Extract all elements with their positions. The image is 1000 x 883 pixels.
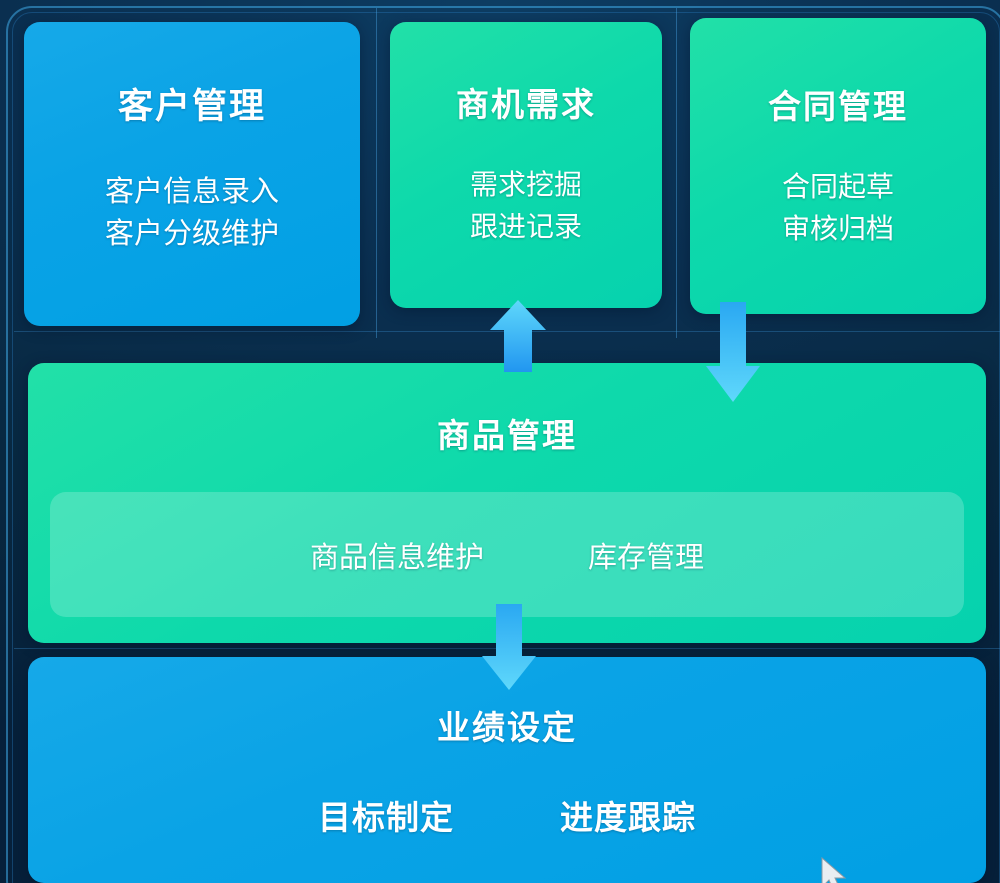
card-opportunity-demand[interactable]: 商机需求 需求挖掘 跟进记录: [390, 22, 662, 308]
card-product-subpanel: 商品信息维护 库存管理: [50, 492, 964, 617]
card-performance-subitems: 目标制定 进度跟踪: [318, 791, 696, 839]
card-product-subitem-0: 商品信息维护: [310, 534, 484, 576]
card-customer-title: 客户管理: [118, 78, 266, 129]
card-opportunity-title: 商机需求: [456, 78, 596, 126]
card-customer-subitems: 客户信息录入 客户分级维护: [105, 171, 279, 255]
card-performance-subitem-1: 进度跟踪: [560, 791, 696, 839]
arrow-up-icon: [489, 300, 547, 372]
card-product-subitem-1: 库存管理: [588, 534, 704, 576]
card-product-management[interactable]: 商品管理 商品信息维护 库存管理: [28, 363, 986, 643]
card-opportunity-subitem-1: 跟进记录: [470, 206, 582, 248]
card-performance-title: 业绩设定: [437, 701, 577, 749]
card-performance-target[interactable]: 业绩设定 目标制定 进度跟踪: [28, 657, 986, 883]
column-divider-2: [676, 8, 677, 338]
row-divider-2: [14, 648, 1000, 649]
card-customer-subitem-1: 客户分级维护: [105, 213, 279, 255]
column-divider-1: [376, 8, 377, 338]
diagram-canvas: 客户管理 客户信息录入 客户分级维护 商机需求 需求挖掘 跟进记录 合同管理 合…: [0, 0, 1000, 883]
card-performance-subitem-0: 目标制定: [318, 791, 454, 839]
card-contract-subitem-1: 审核归档: [782, 208, 894, 250]
card-product-title: 商品管理: [28, 409, 986, 457]
card-contract-management[interactable]: 合同管理 合同起草 审核归档: [690, 18, 986, 314]
card-contract-title: 合同管理: [768, 80, 908, 128]
row-divider-1: [14, 331, 1000, 332]
card-contract-subitem-0: 合同起草: [782, 166, 894, 208]
card-customer-subitem-0: 客户信息录入: [105, 171, 279, 213]
card-opportunity-subitem-0: 需求挖掘: [470, 164, 582, 206]
card-contract-subitems: 合同起草 审核归档: [782, 166, 894, 250]
card-customer-management[interactable]: 客户管理 客户信息录入 客户分级维护: [24, 22, 360, 326]
card-opportunity-subitems: 需求挖掘 跟进记录: [470, 164, 582, 248]
